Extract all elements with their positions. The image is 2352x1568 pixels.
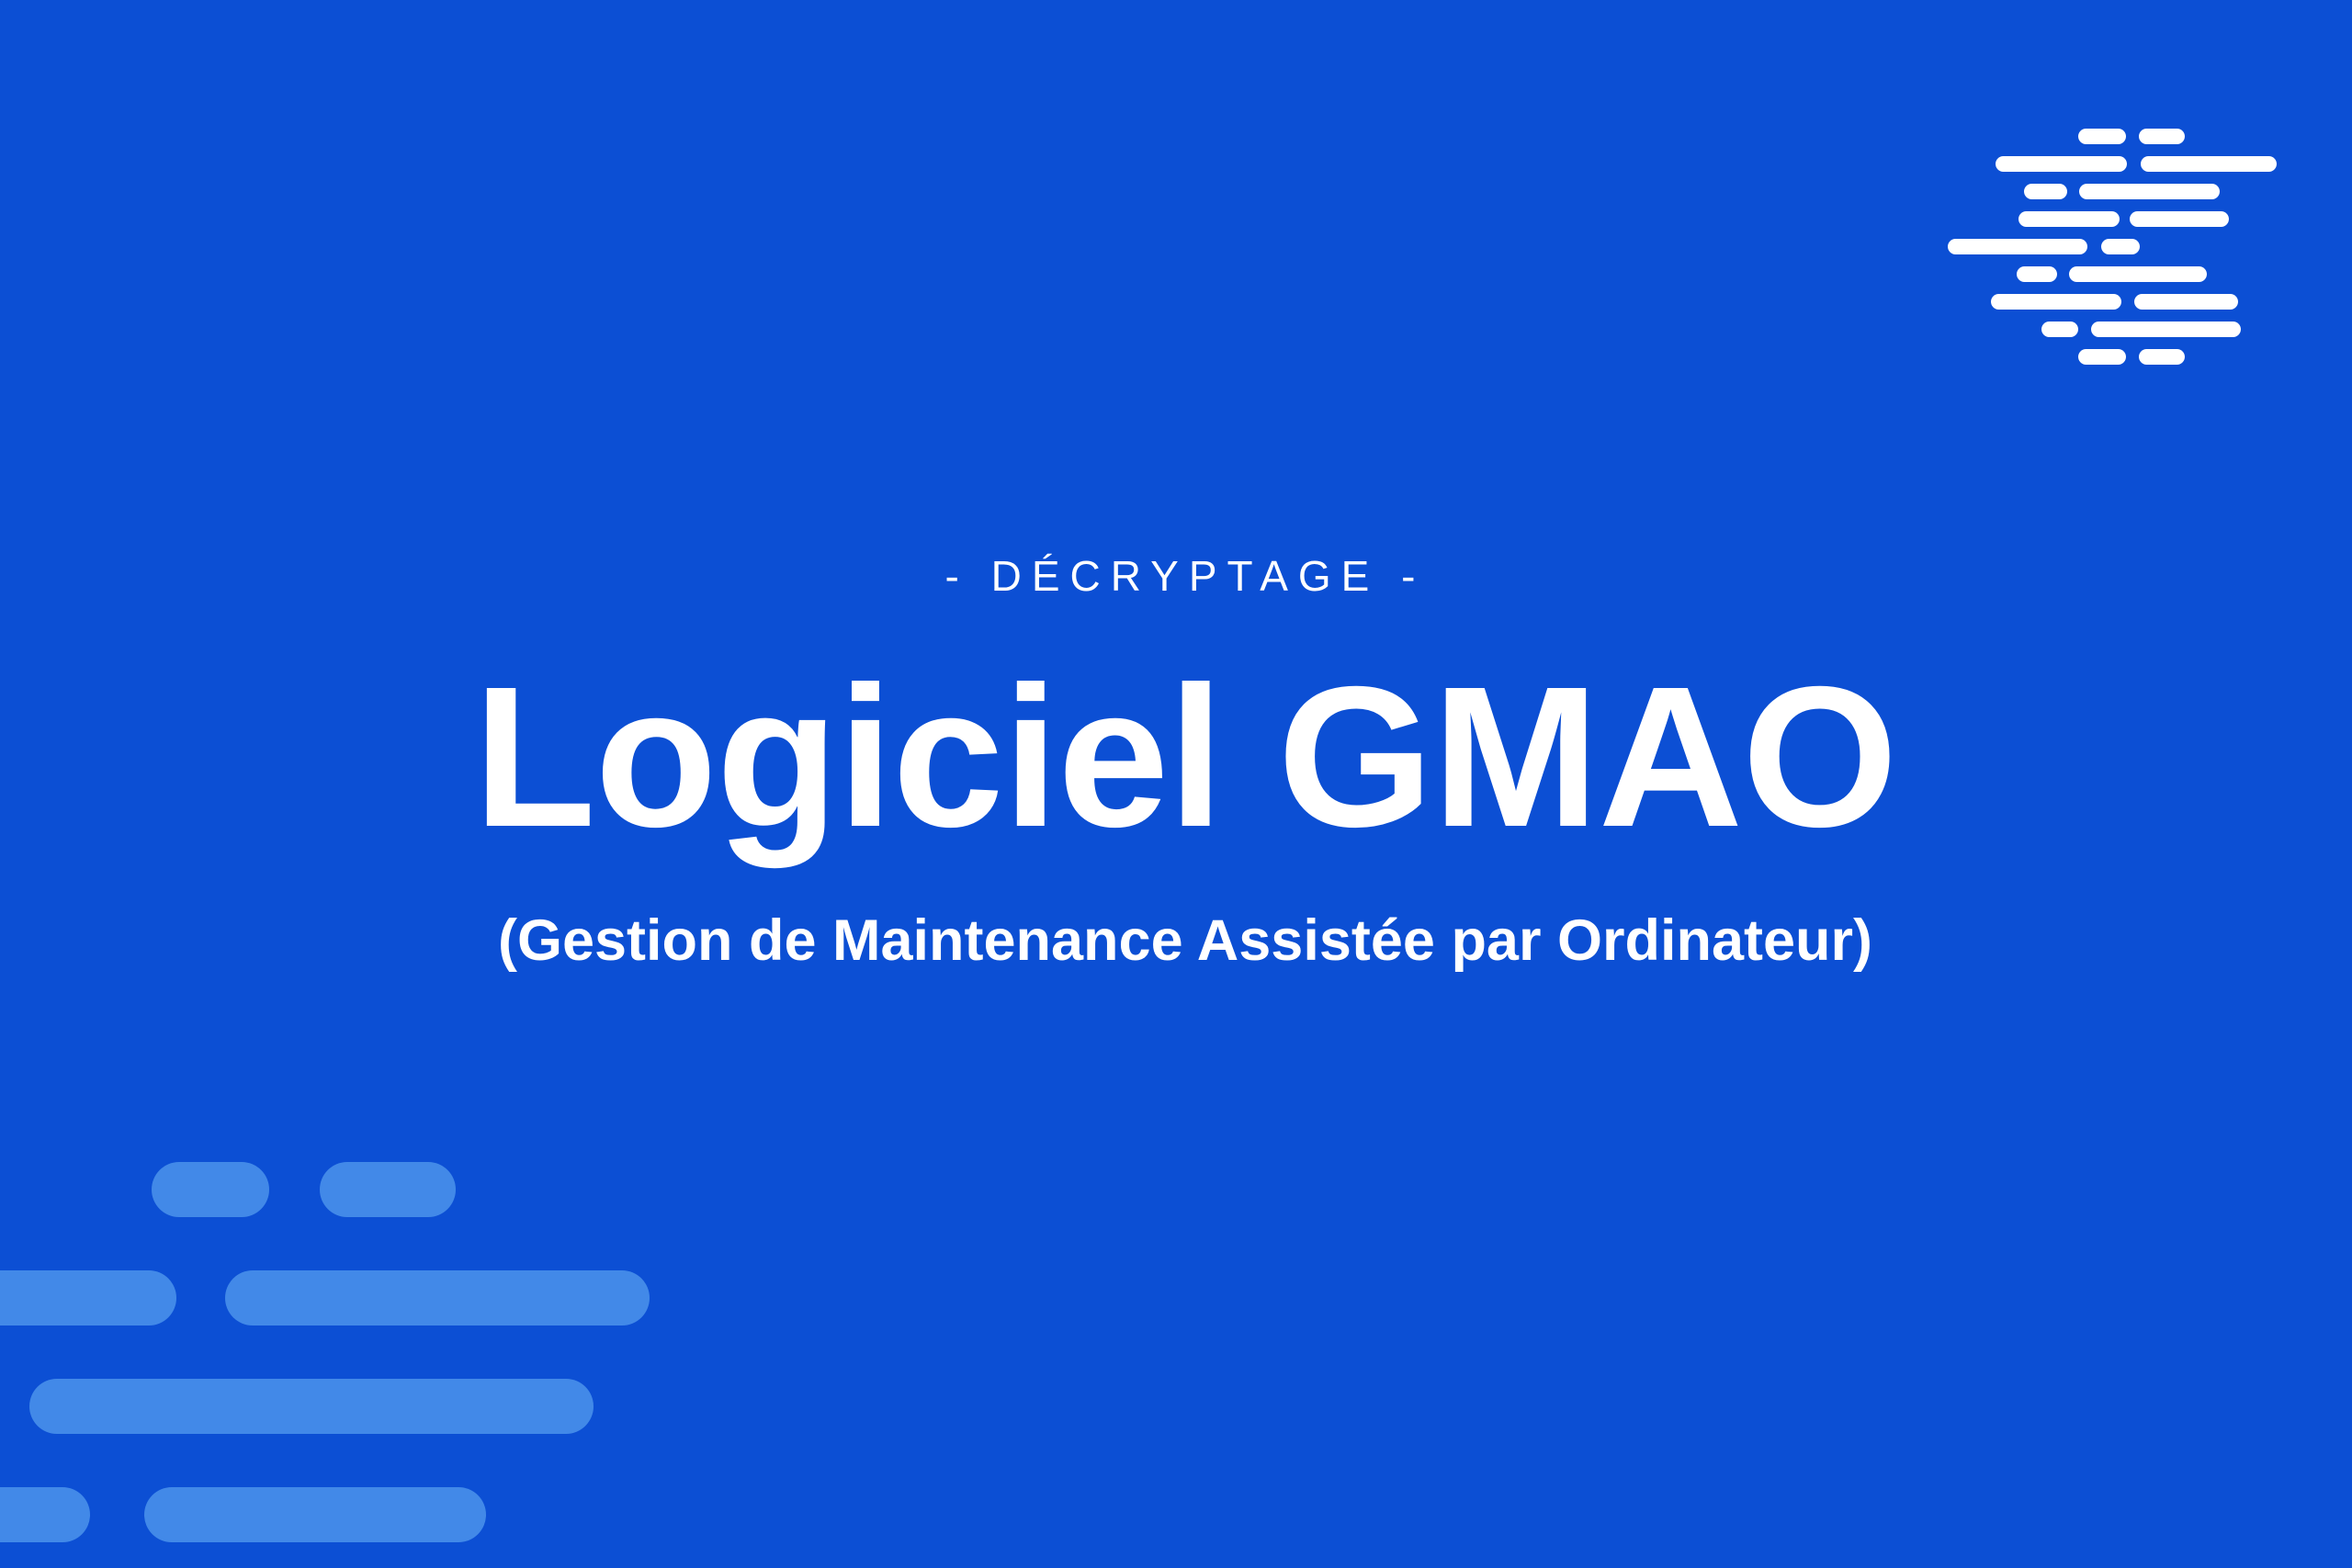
page-title: Logiciel GMAO (175, 656, 2196, 860)
page-subtitle: (Gestion de Maintenance Assistée par Ord… (175, 909, 2196, 973)
slide-canvas: - DÉCRYPTAGE - Logiciel GMAO (Gestion de… (0, 0, 2352, 1568)
eyebrow-label: - DÉCRYPTAGE - (175, 555, 2196, 597)
slide-text-block: - DÉCRYPTAGE - Logiciel GMAO (Gestion de… (0, 0, 2352, 1568)
